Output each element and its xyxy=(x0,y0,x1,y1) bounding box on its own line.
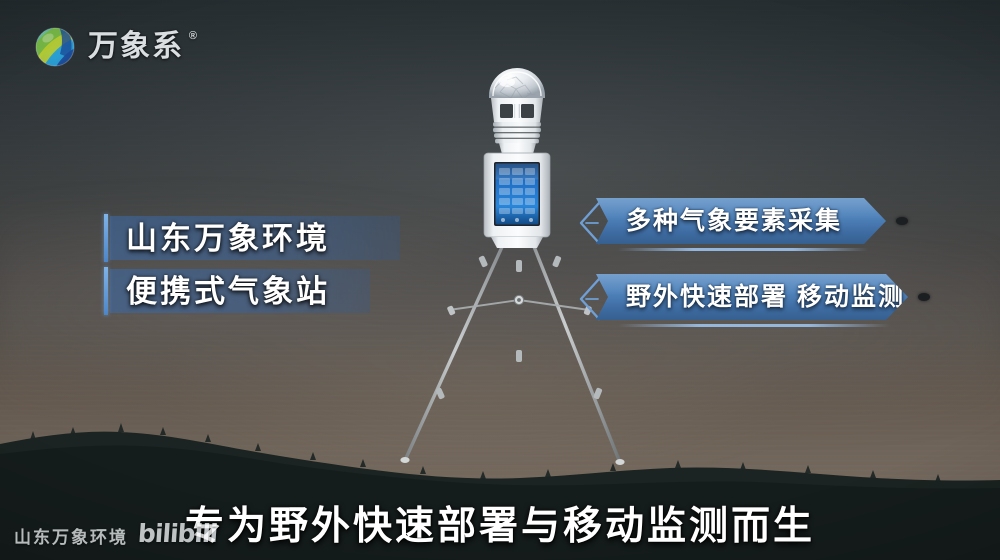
video-frame: 万象系 ® 山东万象环境 便携式气象站 多种气象要素采集 xyxy=(0,0,1000,560)
watermark-brand: 山东万象环境 xyxy=(14,529,128,546)
watermark-row: 山东万象环境 bilibili xyxy=(14,521,217,546)
watermark-bilibili: bilibili xyxy=(137,521,218,546)
vignette-overlay xyxy=(0,0,1000,560)
